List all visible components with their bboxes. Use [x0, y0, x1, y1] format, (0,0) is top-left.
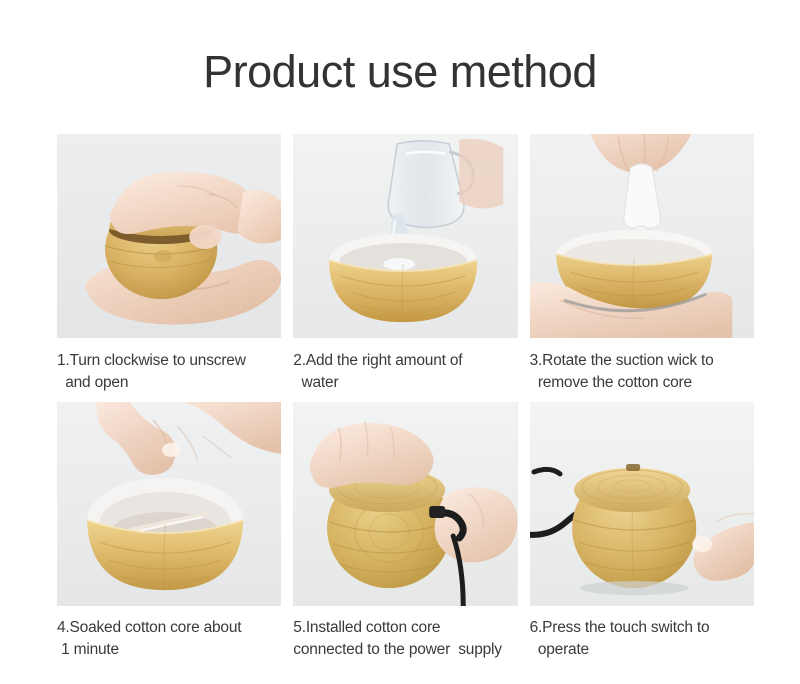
steps-row-2: 4.Soaked cotton core about 1 minute — [57, 402, 754, 669]
step-3-caption: 3.Rotate the suction wick to remove the … — [530, 350, 754, 402]
step-1-photo — [57, 134, 281, 338]
step-6-photo — [530, 402, 754, 606]
step-6: 6.Press the touch switch to operate — [530, 402, 754, 669]
step-2: 2.Add the right amount of water — [293, 134, 517, 402]
soaking-cotton-core-icon — [57, 402, 281, 606]
step-5-photo — [293, 402, 517, 606]
step-1-caption: 1.Turn clockwise to unscrew and open — [57, 350, 281, 402]
step-4: 4.Soaked cotton core about 1 minute — [57, 402, 281, 669]
step-2-caption: 2.Add the right amount of water — [293, 350, 517, 402]
page-title: Product use method — [0, 44, 800, 100]
connecting-power-cable-icon — [293, 402, 517, 606]
step-4-photo — [57, 402, 281, 606]
step-3: 3.Rotate the suction wick to remove the … — [530, 134, 754, 402]
removing-suction-wick-icon — [530, 134, 754, 338]
pressing-touch-switch-icon — [530, 402, 754, 606]
steps-grid: 1.Turn clockwise to unscrew and open — [57, 134, 754, 669]
step-2-photo — [293, 134, 517, 338]
steps-row-1: 1.Turn clockwise to unscrew and open — [57, 134, 754, 402]
step-3-photo — [530, 134, 754, 338]
step-5-caption: 5.Installed cotton core connected to the… — [293, 617, 517, 669]
step-5: 5.Installed cotton core connected to the… — [293, 402, 517, 669]
step-4-caption: 4.Soaked cotton core about 1 minute — [57, 617, 281, 669]
product-instruction-page: Product use method — [0, 0, 800, 684]
step-6-caption: 6.Press the touch switch to operate — [530, 617, 754, 669]
step-1: 1.Turn clockwise to unscrew and open — [57, 134, 281, 402]
pouring-water-into-base-icon — [293, 134, 517, 338]
hands-twisting-open-wood-humidifier-icon — [57, 134, 281, 338]
